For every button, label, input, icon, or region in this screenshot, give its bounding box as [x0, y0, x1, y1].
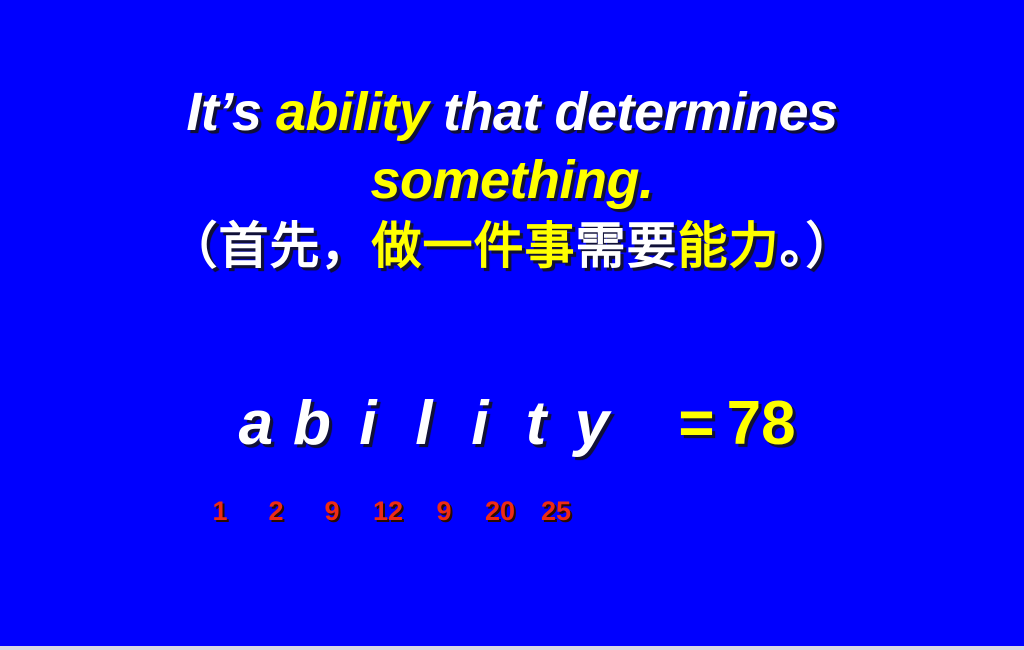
headline-line-1-segment-that-determines: that determines	[429, 82, 838, 142]
headline-line-1-segment-ability: ability	[276, 82, 429, 142]
equals-sign: =	[678, 388, 714, 459]
equation-result: =78	[678, 389, 795, 458]
equation-total: 78	[727, 389, 796, 458]
headline-block: It’s ability that determines something. …	[0, 78, 1024, 278]
headline-line-2-segment-something: something.	[370, 150, 653, 210]
letter-value: 1	[192, 496, 248, 527]
spelled-letter: y	[564, 388, 620, 459]
letter-value: 9	[416, 496, 472, 527]
spelled-letter: a	[228, 388, 284, 459]
letter-value: 9	[304, 496, 360, 527]
letter-value: 2	[248, 496, 304, 527]
chinese-segment-2: 做一件事	[372, 218, 576, 274]
equation-block: ability=78	[0, 388, 1024, 459]
chinese-segment-1: （首先，	[168, 218, 372, 274]
spelled-letter: l	[396, 388, 452, 459]
spelled-letter: i	[340, 388, 396, 459]
headline-chinese-translation: （首先，做一件事需要能力。）	[0, 214, 1024, 278]
chinese-segment-5: 。）	[780, 218, 857, 274]
spelled-letter: i	[452, 388, 508, 459]
headline-line-1: It’s ability that determines	[0, 78, 1024, 146]
letter-value: 12	[360, 496, 416, 527]
spelled-letter: b	[284, 388, 340, 459]
chinese-segment-3: 需要	[576, 218, 678, 274]
bottom-edge-strip	[0, 646, 1024, 650]
headline-line-2: something.	[0, 146, 1024, 214]
spelled-letter: t	[508, 388, 564, 459]
spelled-word: ability	[228, 389, 620, 458]
letter-value: 20	[472, 496, 528, 527]
letter-value-row: 1291292025	[0, 496, 1024, 527]
chinese-segment-4: 能力	[678, 218, 780, 274]
letter-value: 25	[528, 496, 584, 527]
slide-canvas: It’s ability that determines something. …	[0, 0, 1024, 650]
headline-line-1-segment-its: It’s	[186, 82, 276, 142]
